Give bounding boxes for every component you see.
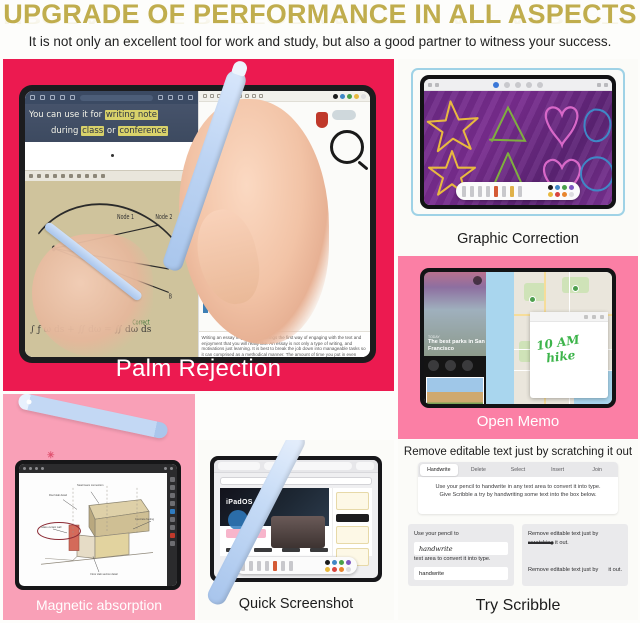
swatch-purple[interactable]	[569, 185, 574, 190]
handwritten-line-2: during class or conference	[29, 123, 194, 139]
sketch-annotation-5: Floor slab section detail	[85, 573, 123, 576]
undo-icon[interactable]	[158, 95, 163, 100]
color-swatches[interactable]	[325, 560, 351, 572]
swatch-black[interactable]	[333, 94, 338, 99]
markup-tool-palette[interactable]	[235, 557, 357, 574]
swatch-blue[interactable]	[555, 185, 560, 190]
scribble-demo-right: Remove editable text just by scratching …	[522, 524, 628, 586]
back-icon[interactable]	[428, 83, 432, 87]
layers-icon[interactable]	[41, 467, 44, 470]
swatch-green[interactable]	[339, 560, 344, 565]
handwritten-caption: You can use it for writing note during c…	[25, 104, 198, 142]
bookmark-icon[interactable]	[462, 360, 473, 371]
news-title: The best parks in San Francisco	[428, 339, 486, 352]
share-icon[interactable]	[178, 95, 183, 100]
magnifier-doodle	[330, 130, 364, 164]
ruler-icon[interactable]	[259, 94, 263, 98]
marker-tool-icon[interactable]	[478, 186, 482, 197]
sketch-annotation-4: Concrete footing	[135, 518, 163, 521]
scribble-demo-left: Use your pencil to handwrite text area t…	[408, 524, 514, 586]
product-feature-grid: UPGRADE OF PERFORMANCE IN ALL ASPECTS UP…	[0, 0, 640, 623]
news-action-icons[interactable]	[424, 356, 486, 375]
maps-app-pane[interactable]: 10 AM hike	[486, 272, 612, 404]
swatch-red[interactable]	[332, 567, 337, 572]
color-icon[interactable]	[77, 174, 81, 178]
news-headline-block: TODAY The best parks in San Francisco	[428, 335, 486, 352]
handwriting-field[interactable]: handwrite	[414, 542, 508, 555]
news-app-pane: TODAY The best parks in San Francisco	[424, 272, 486, 404]
logo-2	[254, 548, 272, 552]
panel-quick-screenshot: iPadOS	[198, 440, 394, 620]
pencil-tool-icon[interactable]	[257, 561, 261, 571]
tablet-screen-magnet: Roof slab detail Steel beam connection G…	[19, 464, 177, 586]
pencil-tool-icon[interactable]	[470, 186, 474, 197]
highlighted-text-3: conference	[118, 126, 167, 136]
redo-icon[interactable]	[35, 467, 38, 470]
news-kicker: TODAY	[428, 335, 486, 339]
demo-result-row: Remove editable text just by it out.	[528, 566, 622, 575]
redo-icon[interactable]	[93, 174, 97, 178]
svg-text:B: B	[169, 292, 172, 300]
close-icon[interactable]	[473, 276, 482, 285]
home-icon[interactable]	[60, 95, 65, 100]
undo-icon[interactable]	[85, 174, 89, 178]
share-icon[interactable]	[597, 83, 601, 87]
caption-graphic-correction: Graphic Correction	[398, 231, 638, 247]
strike-row-prefix: Remove editable text just by	[528, 531, 598, 537]
tab-delete[interactable]: Delete	[459, 464, 498, 476]
crayon-tool-icon[interactable]	[486, 186, 490, 197]
highlighter-icon[interactable]	[69, 174, 73, 178]
sketch-annotation-1: Roof slab detail	[49, 494, 77, 497]
pencil-icon[interactable]	[245, 94, 249, 98]
text-icon[interactable]	[45, 174, 49, 178]
tabs-button[interactable]	[356, 462, 374, 470]
ruler-tool-icon[interactable]	[510, 186, 514, 197]
share-icon[interactable]	[428, 360, 439, 371]
page-header: UPGRADE OF PERFORMANCE IN ALL ASPECTS UP…	[0, 0, 640, 56]
result-suffix: it out.	[608, 566, 622, 575]
shape-icon[interactable]	[53, 174, 57, 178]
settings-icon[interactable]	[170, 541, 175, 546]
highlighter-tool-icon[interactable]	[273, 561, 277, 571]
undo-icon[interactable]	[584, 315, 588, 319]
heart-icon[interactable]	[445, 360, 456, 371]
tool-pen-icon[interactable]	[493, 82, 499, 88]
tablet-device-memo: TODAY The best parks in San Francisco	[420, 268, 616, 408]
text-tool-icon[interactable]	[170, 525, 175, 530]
note-toolbar[interactable]	[530, 312, 608, 322]
cta-button[interactable]	[336, 514, 369, 522]
note-app-pane: You can use it for writing note during c…	[25, 91, 198, 357]
swatch-orange[interactable]	[562, 192, 567, 197]
map-pin-1[interactable]	[529, 296, 536, 303]
quick-note-overlay[interactable]: 10 AM hike	[530, 312, 608, 398]
tablet-screen-memo: TODAY The best parks in San Francisco	[424, 272, 612, 404]
tool-group[interactable]	[493, 82, 543, 88]
swatch-white[interactable]	[569, 192, 574, 197]
lasso-tool-icon[interactable]	[518, 186, 522, 197]
settings-icon[interactable]	[101, 174, 105, 178]
news-thumbnail[interactable]	[426, 377, 484, 404]
redo-icon[interactable]	[168, 95, 173, 100]
drawing-app-toolbar[interactable]	[424, 79, 612, 91]
pen-icon[interactable]	[29, 174, 33, 178]
swatch-purple[interactable]	[346, 560, 351, 565]
eraser-tool-icon[interactable]	[502, 186, 506, 197]
stylus-pencil-floating	[17, 394, 169, 440]
scribble-card: Handwrite Delete Select Insert Join Use …	[418, 462, 618, 514]
logo-3	[282, 548, 300, 552]
swatch-orange[interactable]	[339, 567, 344, 572]
tab-select[interactable]: Select	[499, 464, 538, 476]
sketch-app-sidebar[interactable]	[167, 473, 177, 586]
color-palette[interactable]	[333, 94, 366, 99]
panel-open-memo: TODAY The best parks in San Francisco	[398, 256, 638, 439]
swatch-white[interactable]	[361, 94, 366, 99]
promo-card-1[interactable]	[336, 492, 369, 510]
swatch-black[interactable]	[325, 560, 330, 565]
swatch-yellow[interactable]	[548, 192, 553, 197]
logo-4	[310, 548, 328, 552]
architectural-sketch[interactable]: Roof slab detail Steel beam connection G…	[33, 482, 163, 576]
struck-word: scratching	[528, 540, 554, 546]
more-icon[interactable]	[188, 95, 193, 100]
eraser-tool-icon[interactable]	[265, 561, 269, 571]
browser-tab[interactable]	[218, 462, 260, 470]
sketch-annotation-2: Steel beam connection	[77, 484, 105, 487]
eraser-icon[interactable]	[252, 94, 256, 98]
highlighter-tool-icon[interactable]	[494, 186, 498, 197]
undo-icon[interactable]	[29, 467, 32, 470]
demo-label-1: Use your pencil to	[414, 530, 508, 539]
note-ink-area[interactable]: 10 AM hike	[530, 322, 608, 362]
swatch-yellow[interactable]	[325, 567, 330, 572]
swatch-green[interactable]	[562, 185, 567, 190]
badge-doodle	[332, 110, 356, 120]
swatch-black[interactable]	[548, 185, 553, 190]
handwriting-ink: handwrite	[419, 545, 453, 553]
scribble-title: Remove editable text just by scratching …	[398, 446, 638, 458]
page-separator	[25, 142, 198, 170]
swatch-yellow[interactable]	[354, 94, 359, 99]
bookmark-icon[interactable]	[70, 95, 75, 100]
trophy-doodle	[316, 112, 328, 128]
pen-icon[interactable]	[592, 315, 596, 319]
map-pin-2[interactable]	[572, 285, 579, 292]
sketch-annotation-3: Glass curtain wall	[41, 526, 69, 529]
note-app-navbar[interactable]	[25, 91, 198, 104]
converted-text: handwrite	[419, 571, 444, 577]
sketch-app-toolbar[interactable]	[19, 464, 177, 473]
panel-try-scribble: Remove editable text just by scratching …	[398, 440, 638, 620]
more-icon[interactable]	[604, 83, 608, 87]
news-hero-image: TODAY The best parks in San Francisco	[424, 272, 486, 356]
caption-magnetic-absorption: Magnetic absorption	[3, 597, 195, 613]
strike-row-suffix: it out.	[554, 540, 569, 546]
scribble-demo-grid: Use your pencil to handwrite text area t…	[408, 524, 628, 586]
browser-toolbar[interactable]	[214, 460, 378, 473]
eraser-icon[interactable]	[37, 174, 41, 178]
swatch-green[interactable]	[347, 94, 352, 99]
handwritten-line-1: You can use it for writing note	[29, 107, 194, 123]
eraser-tool-icon[interactable]	[170, 501, 175, 506]
caption-try-scribble: Try Scribble	[398, 597, 638, 615]
scribble-instructions: Use your pencil to handwrite in any text…	[418, 477, 618, 499]
share-icon[interactable]	[600, 315, 604, 319]
highlighted-text-2: class	[81, 126, 104, 136]
address-bar[interactable]	[80, 95, 153, 101]
demo-strike-row: Remove editable text just by scratching …	[528, 530, 622, 548]
converted-text-field[interactable]: handwrite	[414, 567, 508, 580]
caption-open-memo: Open Memo	[398, 413, 638, 430]
highlighted-text-1: writing note	[105, 110, 158, 120]
demo-label-2: text area to convert it into type.	[414, 555, 508, 564]
promo-card-2[interactable]	[336, 526, 369, 544]
tab-handwrite[interactable]: Handwrite	[420, 464, 459, 476]
tool-eraser-icon[interactable]	[515, 82, 521, 88]
share-icon[interactable]	[164, 467, 167, 470]
select-tool-icon[interactable]	[170, 477, 175, 482]
panel-palm-rejection: You can use it for writing note during c…	[3, 59, 394, 391]
result-prefix: Remove editable text just by	[528, 566, 598, 575]
map-water-west	[486, 272, 514, 404]
folder-icon[interactable]	[435, 83, 439, 87]
marker-tool-icon[interactable]	[249, 561, 253, 571]
panel-magnetic-absorption: ✳ ✳	[3, 394, 195, 620]
lasso-icon[interactable]	[61, 174, 65, 178]
caption-palm-rejection: Palm Rejection	[3, 355, 394, 383]
more-icon[interactable]	[170, 467, 173, 470]
sidebar-rail	[332, 488, 372, 556]
ruler-tool-icon[interactable]	[289, 561, 293, 571]
select-icon[interactable]	[203, 94, 207, 98]
page-subtitle: It is not only an excellent tool for wor…	[0, 33, 640, 51]
tablet-screen-graphic	[424, 79, 612, 205]
layers-icon[interactable]	[210, 94, 214, 98]
caption-quick-screenshot: Quick Screenshot	[198, 596, 394, 612]
brush-tool-icon[interactable]	[170, 493, 175, 498]
back-icon[interactable]	[23, 467, 26, 470]
shape-tool-icon[interactable]	[170, 517, 175, 522]
back-icon[interactable]	[30, 95, 35, 100]
drawing-tool-palette[interactable]	[456, 182, 580, 200]
scribble-tab-bar[interactable]: Handwrite Delete Select Insert Join	[418, 462, 618, 477]
hero-title: iPadOS	[226, 499, 253, 506]
pen-tool-icon[interactable]	[462, 186, 466, 197]
menu-icon[interactable]	[40, 95, 45, 100]
swatch-blue[interactable]	[332, 560, 337, 565]
panel-graphic-correction: Graphic Correction	[398, 59, 638, 256]
svg-text:Node 2: Node 2	[155, 213, 172, 221]
swatch-red[interactable]	[555, 192, 560, 197]
lasso-tool-icon[interactable]	[281, 561, 285, 571]
product-image	[271, 516, 325, 548]
page-title: UPGRADE OF PERFORMANCE IN ALL ASPECTS	[0, 0, 640, 29]
search-icon[interactable]	[50, 95, 55, 100]
tab-insert[interactable]: Insert	[538, 464, 577, 476]
color-swatches[interactable]	[548, 185, 574, 197]
page-search-bar[interactable]	[220, 477, 372, 485]
tool-brush-icon[interactable]	[504, 82, 510, 88]
color-red-icon[interactable]	[170, 533, 175, 538]
swatch-blue[interactable]	[340, 94, 345, 99]
tool-layers-icon[interactable]	[537, 82, 543, 88]
pen-tool-icon[interactable]	[170, 485, 175, 490]
tab-join[interactable]: Join	[578, 464, 617, 476]
highlight-circle	[37, 522, 81, 540]
svg-text:Node 1: Node 1	[117, 213, 134, 221]
note-toolbar[interactable]	[25, 170, 198, 181]
tablet-device-graphic	[420, 75, 616, 209]
tool-smudge-icon[interactable]	[526, 82, 532, 88]
tablet-device-magnet: Roof slab detail Steel beam connection G…	[15, 460, 181, 590]
color-blue-icon[interactable]	[170, 509, 175, 514]
swatch-white[interactable]	[346, 567, 351, 572]
